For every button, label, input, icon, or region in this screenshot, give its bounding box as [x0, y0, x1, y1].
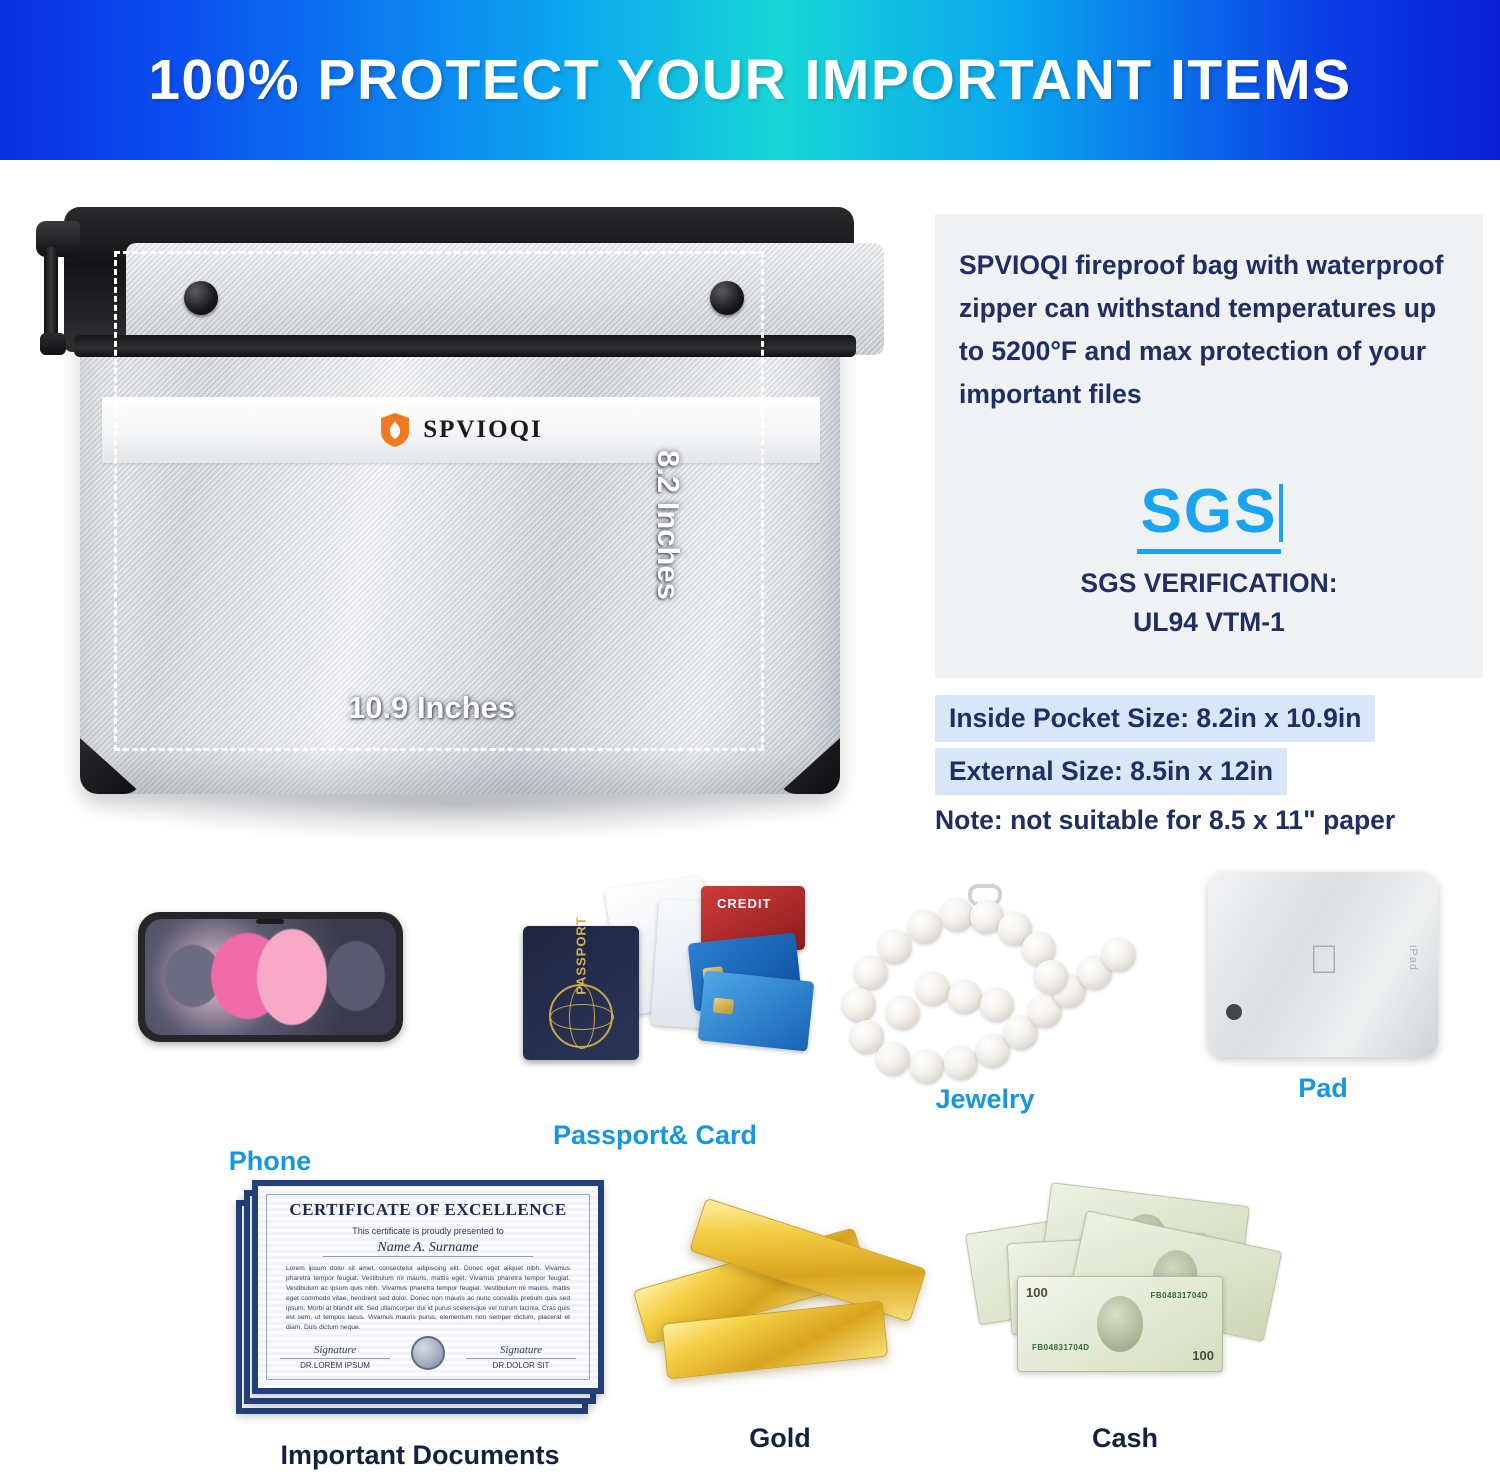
- sgs-block: SGS SGS VERIFICATION: UL94 VTM-1: [935, 476, 1483, 638]
- certificate-heading: CERTIFICATE OF EXCELLENCE: [258, 1200, 598, 1220]
- phone-notch: [256, 919, 284, 924]
- banknote-denomination-right: 100: [1192, 1348, 1214, 1363]
- bank-card-blue: [698, 970, 815, 1051]
- pearl-necklace-icon: [820, 876, 1150, 1076]
- item-caption-jewelry: Jewelry: [820, 1084, 1150, 1115]
- certificate-signature-script-right: Signature: [466, 1344, 576, 1359]
- pearl: [944, 1046, 978, 1080]
- certificate-sheet-front: CERTIFICATE OF EXCELLENCE This certifica…: [252, 1180, 604, 1394]
- item-caption-pad: Pad: [1208, 1073, 1438, 1104]
- product-description: SPVIOQI fireproof bag with waterproof zi…: [959, 244, 1467, 416]
- certificate-subheading: This certificate is proudly presented to: [258, 1226, 598, 1236]
- item-row-top: Phone CREDIT PASSPORT Passport& Card: [0, 862, 1500, 1142]
- pearl: [980, 988, 1014, 1022]
- item-caption-documents: Important Documents: [232, 1440, 608, 1471]
- spec-inside-pocket-size: Inside Pocket Size: 8.2in x 10.9in: [935, 695, 1375, 742]
- phone-wallpaper-blob: [327, 941, 385, 1011]
- passport-booklet: PASSPORT: [523, 926, 639, 1060]
- pearl: [948, 980, 982, 1014]
- smartphone-icon: [138, 912, 403, 1042]
- certificate-signature-left: Signature DR.LOREM IPSUM: [280, 1344, 390, 1370]
- certificate-icon: CERTIFICATE OF EXCELLENCE This certifica…: [236, 1180, 604, 1416]
- pearl: [908, 910, 942, 944]
- zipper-cord-end: [40, 333, 66, 355]
- certificate-body-text: Lorem ipsum dolor sit amet, consectetur …: [286, 1264, 570, 1333]
- item-passport-card: CREDIT PASSPORT Passport& Card: [500, 872, 810, 1151]
- zipper-pull-icon: [36, 221, 80, 257]
- spec-external-size: External Size: 8.5in x 12in: [935, 748, 1287, 795]
- tablet-wordmark: iPad: [1407, 945, 1419, 971]
- certificate-signature-script-left: Signature: [280, 1344, 390, 1359]
- sgs-logo: SGS: [1137, 476, 1282, 554]
- certificate-recipient-name: Name A. Surname: [323, 1240, 533, 1257]
- phone-wallpaper-blob: [257, 929, 327, 1025]
- tablet-camera-icon: [1226, 1004, 1242, 1020]
- certificate-signature-right: Signature DR.DOLOR SIT: [466, 1344, 576, 1370]
- item-cash: 100 100 FB04831704D FB04831704D Cash: [960, 1172, 1290, 1454]
- card-chip-icon: [713, 998, 734, 1015]
- banknote-top: 100 100 FB04831704D FB04831704D: [1017, 1276, 1223, 1372]
- item-jewelry: Jewelry: [820, 876, 1150, 1115]
- item-caption-passport: Passport& Card: [500, 1120, 810, 1151]
- dimension-label-height: 8.2 Inches: [650, 450, 686, 600]
- phone-screen: [145, 919, 396, 1035]
- header-banner: 100% PROTECT YOUR IMPORTANT ITEMS: [0, 0, 1500, 160]
- banknote-portrait: [1097, 1296, 1143, 1352]
- pearl: [1034, 960, 1068, 994]
- pearl: [878, 930, 912, 964]
- sgs-verification-label: SGS VERIFICATION:: [935, 568, 1483, 599]
- pearl: [1102, 938, 1136, 972]
- info-panel: SPVIOQI fireproof bag with waterproof zi…: [935, 214, 1483, 678]
- page-title: 100% PROTECT YOUR IMPORTANT ITEMS: [148, 47, 1351, 113]
- item-gold: Gold: [630, 1172, 930, 1454]
- item-documents: CERTIFICATE OF EXCELLENCE This certifica…: [232, 1180, 608, 1471]
- item-caption-cash: Cash: [960, 1423, 1290, 1454]
- gold-bars-icon: [630, 1172, 930, 1387]
- dimension-label-width: 10.9 Inches: [348, 690, 515, 726]
- pearl: [842, 988, 876, 1022]
- banknote-serial-left: FB04831704D: [1032, 1343, 1090, 1352]
- banknote-denomination-left: 100: [1026, 1285, 1048, 1300]
- item-pad:  iPad Pad: [1208, 872, 1438, 1104]
- pearl: [910, 1050, 944, 1084]
- globe-emblem-icon: [549, 984, 613, 1048]
- certificate-signer-right: DR.DOLOR SIT: [493, 1361, 550, 1370]
- certificate-signer-left: DR.LOREM IPSUM: [300, 1361, 370, 1370]
- item-row-bottom: CERTIFICATE OF EXCELLENCE This certifica…: [0, 1172, 1500, 1472]
- tablet-icon:  iPad: [1208, 872, 1438, 1057]
- certificate-seal-icon: [411, 1336, 445, 1370]
- credit-card-label: CREDIT: [717, 896, 771, 911]
- pearl: [940, 898, 974, 932]
- banknote-serial-right: FB04831704D: [1150, 1291, 1208, 1300]
- pearl: [854, 956, 888, 990]
- banknotes-icon: 100 100 FB04831704D FB04831704D: [965, 1172, 1285, 1387]
- passport-cards-icon: CREDIT PASSPORT: [505, 872, 805, 1062]
- pearl: [886, 996, 920, 1030]
- item-caption-gold: Gold: [630, 1423, 930, 1454]
- pearl: [876, 1042, 910, 1076]
- item-phone: Phone: [130, 912, 410, 1177]
- product-photo-bag: SPVIOQI 10.9 Inches 8.2 Inches: [18, 185, 898, 845]
- pearl: [916, 972, 950, 1006]
- apple-logo-icon: : [1306, 940, 1342, 984]
- sgs-verification-value: UL94 VTM-1: [935, 607, 1483, 638]
- spec-note: Note: not suitable for 8.5 x 11" paper: [935, 805, 1395, 836]
